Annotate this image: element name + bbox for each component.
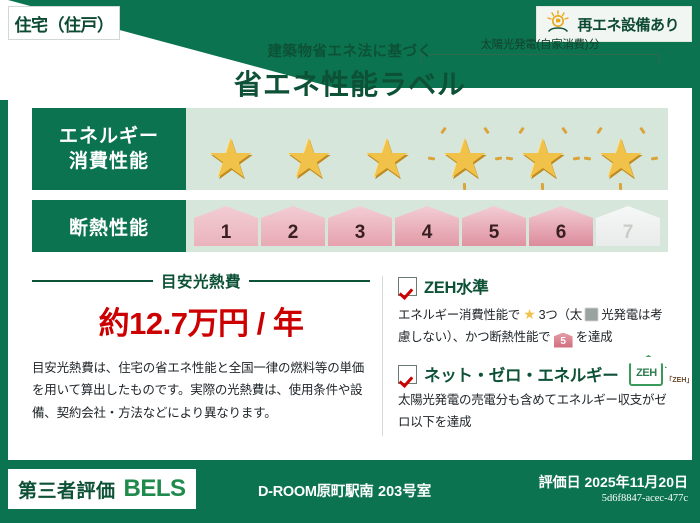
star-icon: ★ <box>363 132 411 186</box>
sparkle-icon <box>428 157 435 161</box>
insulation-grade-badge: 2 <box>261 206 325 246</box>
energy-star: ★ <box>504 126 582 188</box>
insulation-grade-badge: 5 <box>462 206 526 246</box>
house-type-label: 住宅（住戸） <box>15 11 114 36</box>
utility-cost-heading: 目安光熱費 <box>32 270 370 292</box>
zeh-logo-text: ZEH <box>631 367 661 379</box>
energy-star-rating: ★★★★★★ <box>186 126 668 188</box>
star-icon: ★ <box>207 132 255 186</box>
star-icon: ★ <box>441 132 489 186</box>
utility-cost-note: 目安光熱費は、住宅の省エネ性能と全国一律の燃料等の単価を用いて算出したものです。… <box>32 357 370 424</box>
evaluation-date: 評価日 2025年11月20日 <box>539 472 688 492</box>
insulation-performance-row: 断熱性能 1234567 <box>32 200 668 252</box>
heading-rule-right <box>249 280 370 282</box>
insulation-grade-badge: 7 <box>596 206 660 246</box>
energy-performance-label: 住宅（住戸） 再エネ設備あり 建築物省エネ法に基づく 省エネ性能ラベル <box>0 0 700 523</box>
house-type-chip: 住宅（住戸） <box>8 6 120 40</box>
energy-star: ★ <box>348 126 426 188</box>
sparkle-icon <box>584 157 591 161</box>
energy-star: ★ <box>582 126 660 188</box>
criterion-zeh-standard-head: ZEH水準 <box>398 274 672 298</box>
criterion-zeh-standard-title: ZEH水準 <box>424 274 489 298</box>
energy-performance-value: 太陽光発電(自家消費)分 ★★★★★★ <box>186 108 668 190</box>
footer-bar: 第三者評価 BELS D-ROOM原町駅南 203号室 評価日 2025年11月… <box>0 460 700 523</box>
sparkle-icon <box>651 157 658 161</box>
label-title-group: 建築物省エネ法に基づく 省エネ性能ラベル <box>0 40 700 103</box>
sparkle-icon <box>619 183 622 190</box>
star-icon: ★ <box>285 132 333 186</box>
zeh-house-outline-icon: ZEH <box>629 362 663 386</box>
energy-star: ★ <box>426 126 504 188</box>
sparkle-icon <box>573 157 580 161</box>
insulation-performance-value: 1234567 <box>186 200 668 252</box>
evaluation-id: 5d6f8847-acec-477c <box>602 493 688 504</box>
insulation-performance-label: 断熱性能 <box>32 200 186 252</box>
zeh-house-logo: ZEH 「ZEH」 <box>629 362 693 386</box>
sparkle-icon <box>463 183 466 190</box>
utility-cost-block: 目安光熱費 約12.7万円 / 年 目安光熱費は、住宅の省エネ性能と全国一律の燃… <box>32 270 370 424</box>
criterion-net-zero-energy-title: ネット・ゼロ・エネルギー <box>424 362 618 386</box>
sparkle-icon <box>495 157 502 161</box>
building-name: D-ROOM原町駅南 <box>258 480 373 501</box>
inline-grade-badge: 5 <box>554 333 573 348</box>
utility-cost-amount: 約12.7万円 / 年 <box>32 298 370 343</box>
criterion-net-zero-energy-body: 太陽光発電の売電分も含めてエネルギー収支がゼロ以下を達成 <box>398 390 672 433</box>
star-icon: ★ <box>519 132 567 186</box>
solar-sun-icon <box>545 10 571 39</box>
bels-logo-text: BELS <box>124 475 186 503</box>
panel-divider <box>382 276 383 436</box>
redacted-character <box>585 308 598 321</box>
criteria-block: ZEH水準 エネルギー消費性能で ★ 3つ（太 光発電は考慮しない）、かつ断熱性… <box>398 274 672 447</box>
energy-performance-row: エネルギー 消費性能 太陽光発電(自家消費)分 ★★★★★★ <box>32 108 668 190</box>
criterion-zeh-standard: ZEH水準 エネルギー消費性能で ★ 3つ（太 光発電は考慮しない）、かつ断熱性… <box>398 274 672 348</box>
label-title-sub: 建築物省エネ法に基づく <box>0 40 700 61</box>
renewable-equipment-label: 再エネ設備あり <box>577 14 679 35</box>
star-icon: ★ <box>597 132 645 186</box>
insulation-grade-badge: 6 <box>529 206 593 246</box>
energy-star: ★ <box>270 126 348 188</box>
sparkle-icon <box>541 183 544 190</box>
energy-star: ★ <box>192 126 270 188</box>
criterion-zeh-standard-body: エネルギー消費性能で ★ 3つ（太 光発電は考慮しない）、かつ断熱性能で 5 を… <box>398 302 672 348</box>
bels-certification-chip: 第三者評価 BELS <box>8 469 196 509</box>
energy-performance-label: エネルギー 消費性能 <box>32 108 186 190</box>
insulation-grade-badge: 4 <box>395 206 459 246</box>
check-icon-zeh-standard <box>398 277 417 296</box>
criterion-net-zero-energy-head: ネット・ゼロ・エネルギー ZEH 「ZEH」 <box>398 362 672 386</box>
third-party-eval-label: 第三者評価 <box>18 476 116 503</box>
label-title-main: 省エネ性能ラベル <box>0 63 700 103</box>
insulation-grade-badge: 1 <box>194 206 258 246</box>
sparkle-icon <box>506 157 513 161</box>
zeh-logo-caption: 「ZEH」 <box>665 375 693 385</box>
criterion-net-zero-energy: ネット・ゼロ・エネルギー ZEH 「ZEH」 太陽光発電の売電分も含めてエネルギ… <box>398 362 672 433</box>
insulation-grade-badge: 3 <box>328 206 392 246</box>
label-panel: エネルギー 消費性能 太陽光発電(自家消費)分 ★★★★★★ 断熱性能 1234… <box>8 88 692 460</box>
utility-cost-title: 目安光熱費 <box>161 270 241 292</box>
room-number: 203号室 <box>378 480 431 501</box>
insulation-grade-scale: 1234567 <box>186 200 668 252</box>
check-icon-net-zero-energy <box>398 365 417 384</box>
heading-rule-left <box>32 280 153 282</box>
inline-star-icon: ★ <box>523 306 535 322</box>
